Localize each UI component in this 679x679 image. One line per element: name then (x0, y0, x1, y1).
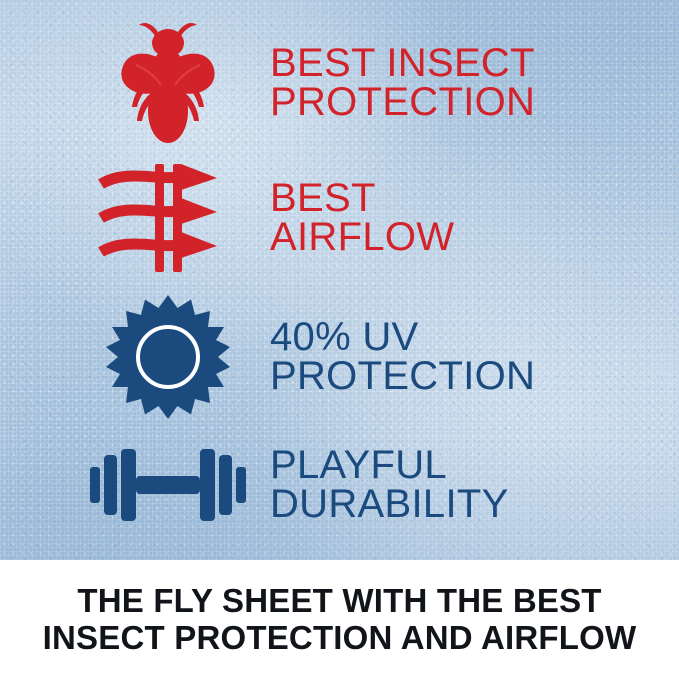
fly-insect-icon (88, 19, 248, 147)
feature-list: BEST INSECT PROTECTION (0, 0, 679, 560)
dumbbell-durability-icon (88, 445, 248, 525)
feature-label: BEST AIRFLOW (270, 179, 454, 257)
feature-label: BEST INSECT PROTECTION (270, 44, 535, 122)
bottom-banner: THE FLY SHEET WITH THE BEST INSECT PROTE… (0, 560, 679, 679)
banner-line-2: INSECT PROTECTION AND AIRFLOW (43, 620, 637, 656)
feature-row-insect-protection: BEST INSECT PROTECTION (88, 18, 648, 148)
feature-row-uv-protection: 40% UV PROTECTION (88, 292, 648, 422)
sun-uv-icon (88, 295, 248, 419)
banner-line-1: THE FLY SHEET WITH THE BEST (77, 583, 601, 619)
feature-row-durability: PLAYFUL DURABILITY (88, 430, 648, 540)
feature-label: PLAYFUL DURABILITY (270, 446, 509, 524)
product-feature-poster: BEST INSECT PROTECTION (0, 0, 679, 679)
feature-label: 40% UV PROTECTION (270, 318, 535, 396)
airflow-arrows-icon (88, 162, 248, 274)
feature-row-airflow: BEST AIRFLOW (88, 158, 648, 278)
